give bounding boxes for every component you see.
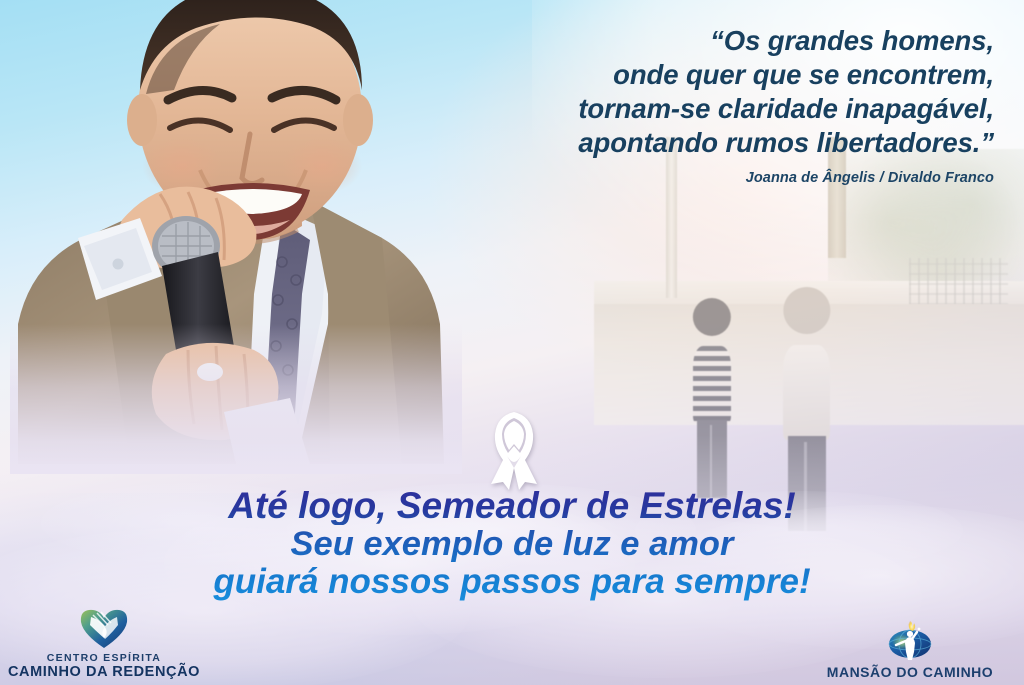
lamp-pole <box>666 137 677 298</box>
headline-line-2: Seu exemplo de luz e amor <box>0 525 1024 563</box>
person-adult <box>783 287 830 350</box>
quote-line-2: onde quer que se encontrem, <box>434 58 994 92</box>
logo-left-line-1: CENTRO ESPÍRITA <box>6 652 202 664</box>
logo-right-line-2: MANSÃO DO CAMINHO <box>802 664 1018 681</box>
logo-left-line-2: CAMINHO DA REDENÇÃO <box>6 664 202 681</box>
striped-shirt <box>693 346 731 424</box>
logo-centro-espirita: CENTRO ESPÍRITA CAMINHO DA REDENÇÃO <box>6 608 202 681</box>
headline: Até logo, Semeador de Estrelas! Seu exem… <box>0 487 1024 601</box>
person-child <box>693 298 731 350</box>
white-ribbon-icon <box>483 406 545 490</box>
quote-line-3: tornam-se claridade inapagável, <box>434 92 994 126</box>
headline-line-1: Até logo, Semeador de Estrelas! <box>0 487 1024 525</box>
hands-heart-icon <box>77 608 131 650</box>
quote-line-1: “Os grandes homens, <box>434 24 994 58</box>
logo-mansao-do-caminho: MANSÃO DO CAMINHO <box>802 618 1018 681</box>
head <box>783 287 830 334</box>
quote-line-4: apontando rumos libertadores.” <box>434 126 994 160</box>
white-shirt <box>783 345 830 440</box>
memorial-poster: “Os grandes homens, onde quer que se enc… <box>0 0 1024 685</box>
quote-attribution: Joanna de Ângelis / Divaldo Franco <box>434 170 994 186</box>
quote-text: “Os grandes homens, onde quer que se enc… <box>434 24 994 160</box>
globe-figure-flame-icon <box>886 618 934 662</box>
head <box>693 298 731 336</box>
portrait-divaldo-franco <box>10 0 462 464</box>
headline-line-3: guiará nossos passos para sempre! <box>0 563 1024 601</box>
